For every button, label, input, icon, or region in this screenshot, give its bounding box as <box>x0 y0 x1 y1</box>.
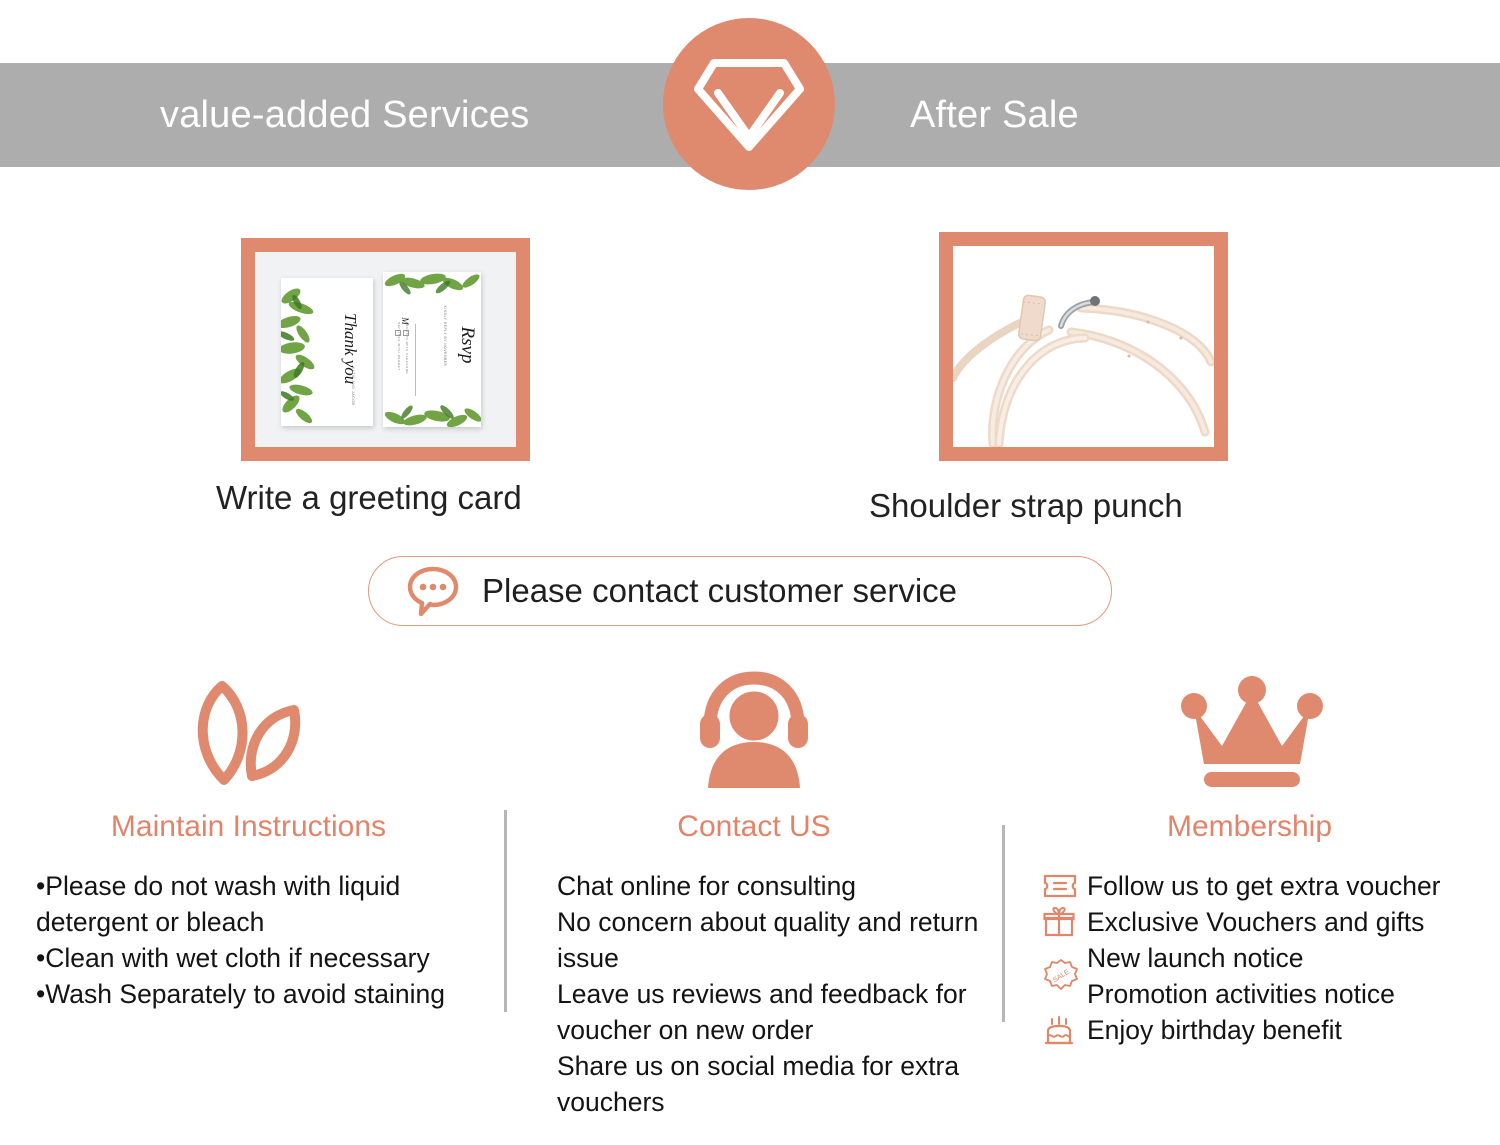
sale-badge-icon: SALE <box>1043 958 1079 1003</box>
shoulder-strap-photo-frame <box>939 232 1228 461</box>
membership-row-sale: SALE New launch notice Promotion activit… <box>1043 940 1492 1012</box>
membership-row-promotion-label: Promotion activities notice <box>1087 976 1492 1012</box>
membership-row-voucher-label: Follow us to get extra voucher <box>1087 868 1441 904</box>
card-back-script: Rsvp <box>456 305 478 385</box>
contact-line-4: Share us on social media for extra vouch… <box>557 1048 979 1120</box>
contact-us-body: Chat online for consulting No concern ab… <box>505 868 1003 1120</box>
greeting-cards-photo: Thank you KATIE AND JACOB <box>255 252 516 447</box>
crown-icon <box>1003 660 1500 790</box>
diamond-v-logo-icon <box>690 49 808 159</box>
leaves-icon <box>0 660 505 790</box>
greeting-card-front: Thank you KATIE AND JACOB <box>281 278 373 426</box>
card-back-name-rule <box>415 324 416 396</box>
svg-text:SALE: SALE <box>1052 969 1071 985</box>
contact-line-2: No concern about quality and return issu… <box>557 904 979 976</box>
membership-body: Follow us to get extra voucher Exclusive… <box>1003 868 1500 1048</box>
birthday-cake-icon <box>1043 1015 1087 1045</box>
maintain-instructions-column: Maintain Instructions •Please do not was… <box>0 660 505 1012</box>
membership-title: Membership <box>999 810 1500 844</box>
card-front-subtitle: KATIE AND JACOB <box>351 356 355 416</box>
greeting-card-back: Rsvp KINDLY REPLY BY NOVEMBER M ACCEPTS … <box>383 272 481 427</box>
card-back-option-1: ACCEPTS WITH PLEASURE <box>405 322 409 382</box>
maintain-instructions-body: •Please do not wash with liquid detergen… <box>0 868 505 1012</box>
contact-banner-label: Please contact customer service <box>482 572 957 610</box>
greeting-card-caption: Write a greeting card <box>216 479 522 517</box>
contact-line-3: Leave us reviews and feedback for vouche… <box>557 976 979 1048</box>
page-header: value-added Services After Sale <box>0 0 1500 200</box>
headset-agent-icon <box>505 660 1003 790</box>
gift-box-icon <box>1043 907 1087 937</box>
ticket-voucher-icon <box>1043 873 1087 899</box>
leather-shoulder-strap-photo <box>953 246 1214 447</box>
membership-row-newlaunch-label: New launch notice <box>1087 940 1492 976</box>
card-back-subtitle: KINDLY REPLY BY NOVEMBER <box>443 296 447 376</box>
shoulder-strap-caption: Shoulder strap punch <box>869 487 1183 525</box>
membership-column: Membership Follow us to get extra vouche… <box>1003 660 1500 1048</box>
membership-row-gift-label: Exclusive Vouchers and gifts <box>1087 904 1424 940</box>
contact-us-column: Contact US Chat online for consulting No… <box>505 660 1003 1120</box>
maintain-line-2: •Clean with wet cloth if necessary <box>36 940 485 976</box>
maintain-line-1: •Please do not wash with liquid detergen… <box>36 868 485 940</box>
contact-us-title: Contact US <box>505 810 1003 844</box>
membership-row-birthday-label: Enjoy birthday benefit <box>1087 1012 1342 1048</box>
chat-bubble-icon <box>406 564 460 618</box>
maintain-instructions-title: Maintain Instructions <box>0 810 505 844</box>
contact-customer-service-banner[interactable]: Please contact customer service <box>368 556 1112 626</box>
card-front-script: Thank you <box>340 313 360 383</box>
maintain-line-3: •Wash Separately to avoid staining <box>36 976 485 1012</box>
card-back-option-2: DECLINES WITH REGRET <box>397 322 401 382</box>
membership-row-birthday: Enjoy birthday benefit <box>1043 1012 1492 1048</box>
header-title-right: After Sale <box>910 63 1079 167</box>
membership-sale-lines: New launch notice Promotion activities n… <box>1087 940 1492 1012</box>
membership-row-gift: Exclusive Vouchers and gifts <box>1043 904 1492 940</box>
membership-row-voucher: Follow us to get extra voucher <box>1043 868 1492 904</box>
header-title-left: value-added Services <box>160 63 529 167</box>
greeting-card-photo-frame: Thank you KATIE AND JACOB <box>241 238 530 461</box>
contact-line-1: Chat online for consulting <box>557 868 979 904</box>
brand-logo <box>663 18 835 190</box>
